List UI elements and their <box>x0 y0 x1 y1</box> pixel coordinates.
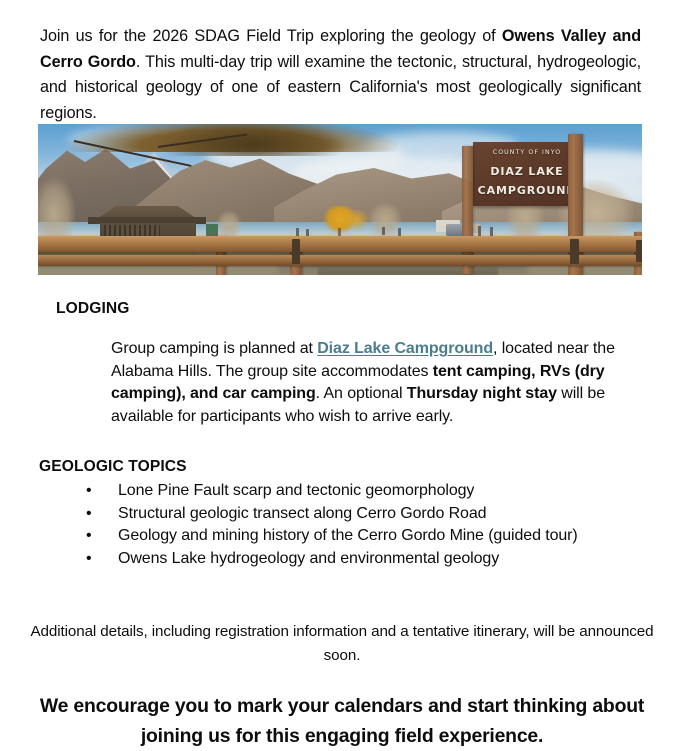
autumn-foliage-tree <box>344 210 370 232</box>
person-figure <box>478 226 481 236</box>
list-item-label: Lone Pine Fault scarp and tectonic geomo… <box>118 482 474 499</box>
list-item-label: Owens Lake hydrogeology and environmenta… <box>118 550 499 567</box>
intro-paragraph: Join us for the 2026 SDAG Field Trip exp… <box>40 24 641 126</box>
intro-text-before: Join us for the 2026 SDAG Field Trip exp… <box>40 27 502 45</box>
bullet-icon: • <box>86 548 92 571</box>
overhanging-tree-canopy-shadow <box>158 124 348 156</box>
sign-line-name: DIAZ LAKE <box>473 165 581 178</box>
fence-rail-top <box>38 236 642 252</box>
bullet-icon: • <box>86 503 92 526</box>
bullet-icon: • <box>86 480 92 503</box>
closing-note: Additional details, including registrati… <box>16 620 668 668</box>
announcement-page: Join us for the 2026 SDAG Field Trip exp… <box>0 0 685 748</box>
diaz-lake-campground-link[interactable]: Diaz Lake Campground <box>317 340 493 357</box>
bullet-icon: • <box>86 525 92 548</box>
geologic-topics-list: •Lone Pine Fault scarp and tectonic geom… <box>86 480 656 570</box>
sign-line-county: COUNTY OF INYO <box>473 149 581 156</box>
fence-bracket <box>292 239 300 264</box>
fence-bracket <box>636 240 642 262</box>
lodging-text-1: Group camping is planned at <box>111 340 317 357</box>
fence-bracket <box>570 239 579 264</box>
fence-rail-bottom <box>38 255 642 266</box>
geologic-topics-heading: GEOLOGIC TOPICS <box>39 458 187 476</box>
person-figure <box>382 227 385 235</box>
person-figure <box>398 228 401 236</box>
person-figure <box>490 227 493 236</box>
closing-call-to-action: We encourage you to mark your calendars … <box>12 691 672 751</box>
bare-tree <box>216 210 242 238</box>
list-item: •Lone Pine Fault scarp and tectonic geom… <box>86 480 656 503</box>
campground-sign: COUNTY OF INYO DIAZ LAKE CAMPGROUND <box>473 142 581 206</box>
bare-tree <box>368 202 402 236</box>
photo-canvas: COUNTY OF INYO DIAZ LAKE CAMPGROUND <box>38 124 642 275</box>
list-item-label: Geology and mining history of the Cerro … <box>118 527 578 544</box>
lodging-heading: LODGING <box>56 300 129 318</box>
list-item: •Geology and mining history of the Cerro… <box>86 525 656 548</box>
person-figure <box>296 228 299 236</box>
lodging-text-3: . An optional <box>316 385 407 402</box>
campground-photo: COUNTY OF INYO DIAZ LAKE CAMPGROUND <box>38 124 642 275</box>
list-item: •Structural geologic transect along Cerr… <box>86 503 656 526</box>
lodging-body: Group camping is planned at Diaz Lake Ca… <box>111 338 627 428</box>
list-item: •Owens Lake hydrogeology and environment… <box>86 548 656 571</box>
sign-line-type: CAMPGROUND <box>473 184 581 197</box>
list-item-label: Structural geologic transect along Cerro… <box>118 505 486 522</box>
lodging-bold-thursday-stay: Thursday night stay <box>407 385 557 402</box>
